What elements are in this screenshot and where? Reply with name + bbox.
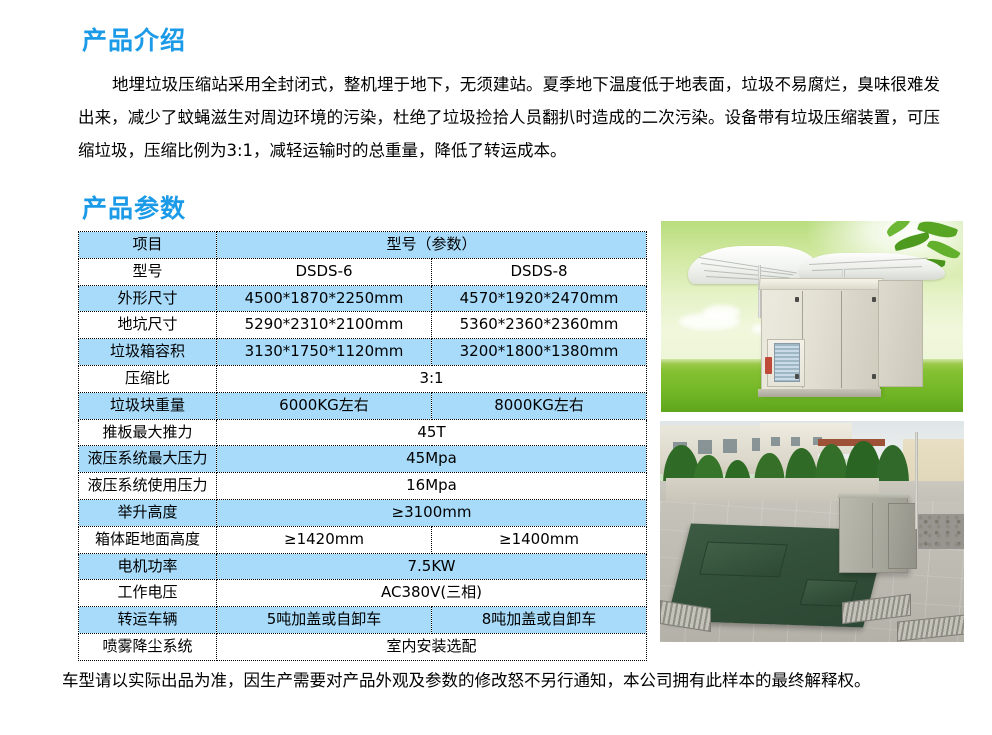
intro-paragraph: 地埋垃圾压缩站采用全封闭式，整机埋于地下，无须建站。夏季地下温度低于地表面，垃圾… xyxy=(78,68,940,167)
table-row: 外形尺寸4500*1870*2250mm4570*1920*2470mm xyxy=(79,285,647,312)
table-cell-label: 喷雾降尘系统 xyxy=(79,633,217,660)
footer-disclaimer: 车型请以实际出品为准，因生产需要对产品外观及参数的修改怒不另行通知，本公司拥有此… xyxy=(62,668,942,694)
station-red-label xyxy=(765,357,772,374)
photo-installation-site xyxy=(660,421,964,642)
table-cell-label: 电机功率 xyxy=(79,553,217,580)
table-cell-label: 垃圾块重量 xyxy=(79,392,217,419)
table-row: 液压系统最大压力45Mpa xyxy=(79,446,647,473)
table-cell-value-merged: 45Mpa xyxy=(217,446,647,473)
product-spec-page: 产品介绍 地埋垃圾压缩站采用全封闭式，整机埋于地下，无须建站。夏季地下温度低于地… xyxy=(0,0,992,735)
table-cell-label: 举升高度 xyxy=(79,499,217,526)
table-cell-label: 箱体距地面高度 xyxy=(79,526,217,553)
table-cell-label: 压缩比 xyxy=(79,365,217,392)
table-row: 推板最大推力45T xyxy=(79,419,647,446)
table-cell-value-model-8: 4570*1920*2470mm xyxy=(432,285,647,312)
table-row: 液压系统使用压力16Mpa xyxy=(79,473,647,500)
table-cell-value-merged: 3:1 xyxy=(217,365,647,392)
table-row: 型号DSDS-6DSDS-8 xyxy=(79,258,647,285)
table-cell-value-model-8: DSDS-8 xyxy=(432,258,647,285)
table-row: 电机功率7.5KW xyxy=(79,553,647,580)
table-cell-value-model-6: 6000KG左右 xyxy=(217,392,432,419)
pit-cover-hatch xyxy=(699,541,788,577)
table-cell-value-model-6: 5290*2310*2100mm xyxy=(217,312,432,339)
table-cell-label: 转运车辆 xyxy=(79,607,217,634)
table-cell-value-model-6: ≥1420mm xyxy=(217,526,432,553)
table-cell-value-merged: 16Mpa xyxy=(217,473,647,500)
table-cell-value-model-6: DSDS-6 xyxy=(217,258,432,285)
photo-site-scene xyxy=(660,421,964,642)
table-row: 举升高度≥3100mm xyxy=(79,499,647,526)
gravel-patch xyxy=(918,514,964,549)
table-cell-value-model-6: 5吨加盖或自卸车 xyxy=(217,607,432,634)
table-cell-value-merged: ≥3100mm xyxy=(217,499,647,526)
bolt-marker xyxy=(795,297,799,302)
site-cabinet-side xyxy=(888,503,917,569)
photo-station-unit xyxy=(661,221,963,412)
table-cell-value-merged: AC380V(三相) xyxy=(217,580,647,607)
table-cell-value-merged: 45T xyxy=(217,419,647,446)
table-row: 喷雾降尘系统室内安装选配 xyxy=(79,633,647,660)
table-header-model-group: 型号（参数） xyxy=(217,232,647,259)
table-cell-value-model-6: 4500*1870*2250mm xyxy=(217,285,432,312)
table-cell-value-model-8: ≥1400mm xyxy=(432,526,647,553)
table-row: 地坑尺寸5290*2310*2100mm5360*2360*2360mm xyxy=(79,312,647,339)
station-cabinet-side xyxy=(878,280,922,387)
cloud-shape xyxy=(703,305,739,320)
section-heading-parameters: 产品参数 xyxy=(82,196,186,221)
table-row: 压缩比3:1 xyxy=(79,365,647,392)
table-cell-label: 垃圾箱容积 xyxy=(79,339,217,366)
table-cell-label: 地坑尺寸 xyxy=(79,312,217,339)
photo-station-scene xyxy=(661,221,963,412)
parameter-table: 项目 型号（参数） 型号DSDS-6DSDS-8外形尺寸4500*1870*22… xyxy=(78,231,647,661)
table-cell-label: 工作电压 xyxy=(79,580,217,607)
table-cell-value-model-8: 3200*1800*1380mm xyxy=(432,339,647,366)
table-row: 垃圾箱容积3130*1750*1120mm3200*1800*1380mm xyxy=(79,339,647,366)
table-cell-value-model-6: 3130*1750*1120mm xyxy=(217,339,432,366)
table-cell-value-model-8: 8吨加盖或自卸车 xyxy=(432,607,647,634)
parameter-table-wrapper: 项目 型号（参数） 型号DSDS-6DSDS-8外形尺寸4500*1870*22… xyxy=(78,231,646,661)
bolt-marker xyxy=(795,374,799,379)
table-row: 转运车辆5吨加盖或自卸车8吨加盖或自卸车 xyxy=(79,607,647,634)
section-heading-intro: 产品介绍 xyxy=(82,28,186,53)
table-cell-value-model-8: 8000KG左右 xyxy=(432,392,647,419)
table-cell-label: 液压系统使用压力 xyxy=(79,473,217,500)
table-cell-label: 型号 xyxy=(79,258,217,285)
table-row: 垃圾块重量6000KG左右8000KG左右 xyxy=(79,392,647,419)
parameter-table-body: 项目 型号（参数） 型号DSDS-6DSDS-8外形尺寸4500*1870*22… xyxy=(79,232,647,661)
table-header-row: 项目 型号（参数） xyxy=(79,232,647,259)
table-cell-label: 液压系统最大压力 xyxy=(79,446,217,473)
table-cell-label: 外形尺寸 xyxy=(79,285,217,312)
table-cell-value-model-8: 5360*2360*2360mm xyxy=(432,312,647,339)
table-row: 箱体距地面高度≥1420mm≥1400mm xyxy=(79,526,647,553)
table-cell-value-merged: 7.5KW xyxy=(217,553,647,580)
canopy-right-panel xyxy=(800,253,945,280)
table-cell-value-merged: 室内安装选配 xyxy=(217,633,647,660)
bolt-marker xyxy=(872,374,876,379)
table-header-item: 项目 xyxy=(79,232,217,259)
station-base-plinth xyxy=(758,389,882,397)
table-cell-label: 推板最大推力 xyxy=(79,419,217,446)
table-row: 工作电压AC380V(三相) xyxy=(79,580,647,607)
